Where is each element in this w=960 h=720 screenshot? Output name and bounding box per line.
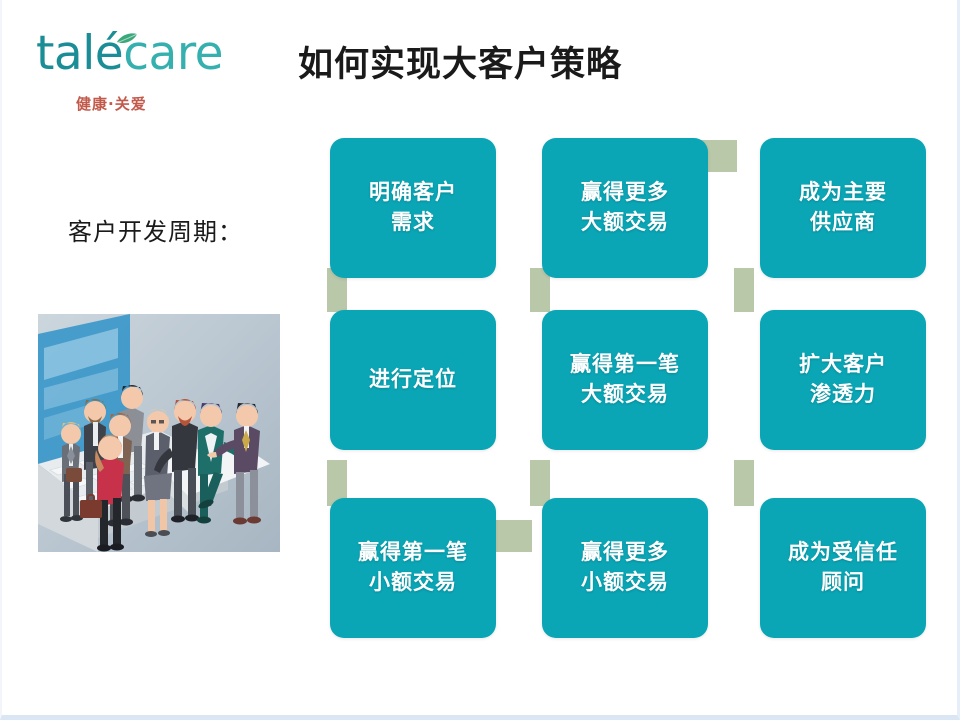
node-line: 顾问 [821,568,865,598]
process-node-r3c3[interactable]: 成为受信任 顾问 [760,498,926,638]
node-line: 成为主要 [799,178,887,208]
node-line: 需求 [391,208,435,238]
logo-text-care: care [123,26,223,81]
node-line: 进行定位 [369,365,457,395]
business-people-illustration [38,314,280,552]
connector-col3-row2-row3 [734,460,754,506]
logo-tagline: 健康·关爱 [30,93,250,114]
slide-canvas: talécare 健康·关爱 如何实现大客户策略 客户开发周期： [0,0,960,720]
brand-logo: talécare 健康·关爱 [30,30,250,130]
process-node-r2c3[interactable]: 扩大客户 渗透力 [760,310,926,450]
node-line: 小额交易 [581,568,669,598]
process-node-r1c3[interactable]: 成为主要 供应商 [760,138,926,278]
process-node-r2c1[interactable]: 进行定位 [330,310,496,450]
process-node-r3c1[interactable]: 赢得第一笔 小额交易 [330,498,496,638]
logo-text-tale: tal [36,26,95,81]
node-line: 赢得更多 [581,178,669,208]
logo-wordmark: talécare [30,30,250,77]
node-line: 赢得第一笔 [570,350,680,380]
process-node-r2c2[interactable]: 赢得第一笔 大额交易 [542,310,708,450]
node-line: 供应商 [810,208,876,238]
process-node-r1c2[interactable]: 赢得更多 大额交易 [542,138,708,278]
node-line: 赢得更多 [581,538,669,568]
page-title: 如何实现大客户策略 [298,36,622,87]
node-line: 小额交易 [369,568,457,598]
left-caption-label: 客户开发周期： [68,212,243,247]
node-line: 扩大客户 [799,350,887,380]
leaf-icon [116,33,138,46]
node-line: 大额交易 [581,208,669,238]
process-node-r1c1[interactable]: 明确客户 需求 [330,138,496,278]
connector-col2-row3-row2 [530,460,550,506]
process-node-r3c2[interactable]: 赢得更多 小额交易 [542,498,708,638]
node-line: 大额交易 [581,380,669,410]
node-line: 成为受信任 [788,538,898,568]
node-line: 赢得第一笔 [358,538,468,568]
node-line: 明确客户 [369,178,457,208]
node-line: 渗透力 [810,380,876,410]
connector-col3-row1-row2 [734,268,754,312]
process-diagram: 明确客户 需求 赢得更多 大额交易 成为主要 供应商 进行定位 赢得第一笔 大额… [302,120,960,660]
